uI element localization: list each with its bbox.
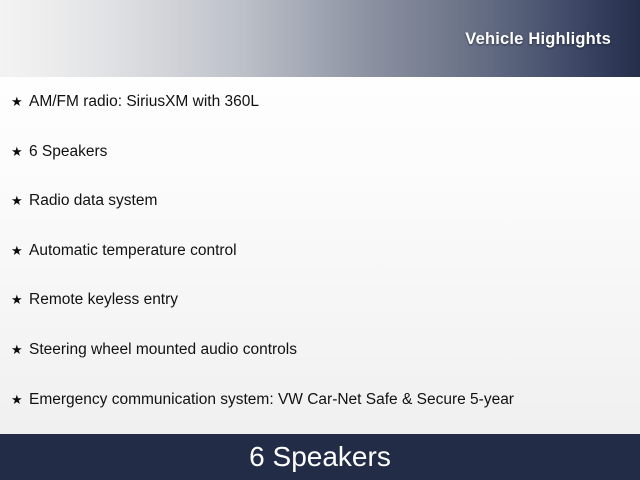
list-item-label: AM/FM radio: SiriusXM with 360L	[29, 93, 259, 110]
highlights-list: ★AM/FM radio: SiriusXM with 360L ★6 Spea…	[0, 77, 640, 424]
list-item-label: Emergency communication system: VW Car-N…	[29, 391, 514, 408]
list-item: ★Automatic temperature control	[0, 226, 640, 276]
list-item: ★Emergency communication system: VW Car-…	[0, 375, 640, 425]
star-bullet-icon: ★	[11, 392, 29, 408]
list-item-label: Remote keyless entry	[29, 291, 178, 308]
header-bar: Vehicle Highlights	[0, 0, 640, 77]
list-item: ★Remote keyless entry	[0, 275, 640, 325]
star-bullet-icon: ★	[11, 243, 29, 259]
page-title: Vehicle Highlights	[465, 30, 611, 49]
list-item-label: Steering wheel mounted audio controls	[29, 341, 297, 358]
star-bullet-icon: ★	[11, 342, 29, 358]
caption-bar: 6 Speakers	[0, 434, 640, 480]
list-item: ★AM/FM radio: SiriusXM with 360L	[0, 77, 640, 127]
star-bullet-icon: ★	[11, 193, 29, 209]
caption-label: 6 Speakers	[0, 434, 640, 480]
list-item-label: 6 Speakers	[29, 143, 107, 160]
star-bullet-icon: ★	[11, 94, 29, 110]
list-item-label: Radio data system	[29, 192, 157, 209]
list-item: ★Radio data system	[0, 176, 640, 226]
vehicle-highlights-slide: Vehicle Highlights ★AM/FM radio: SiriusX…	[0, 0, 640, 480]
star-bullet-icon: ★	[11, 144, 29, 160]
list-item: ★Steering wheel mounted audio controls	[0, 325, 640, 375]
list-item-label: Automatic temperature control	[29, 242, 237, 259]
star-bullet-icon: ★	[11, 292, 29, 308]
highlights-panel: ★AM/FM radio: SiriusXM with 360L ★6 Spea…	[0, 77, 640, 434]
list-item: ★6 Speakers	[0, 127, 640, 177]
